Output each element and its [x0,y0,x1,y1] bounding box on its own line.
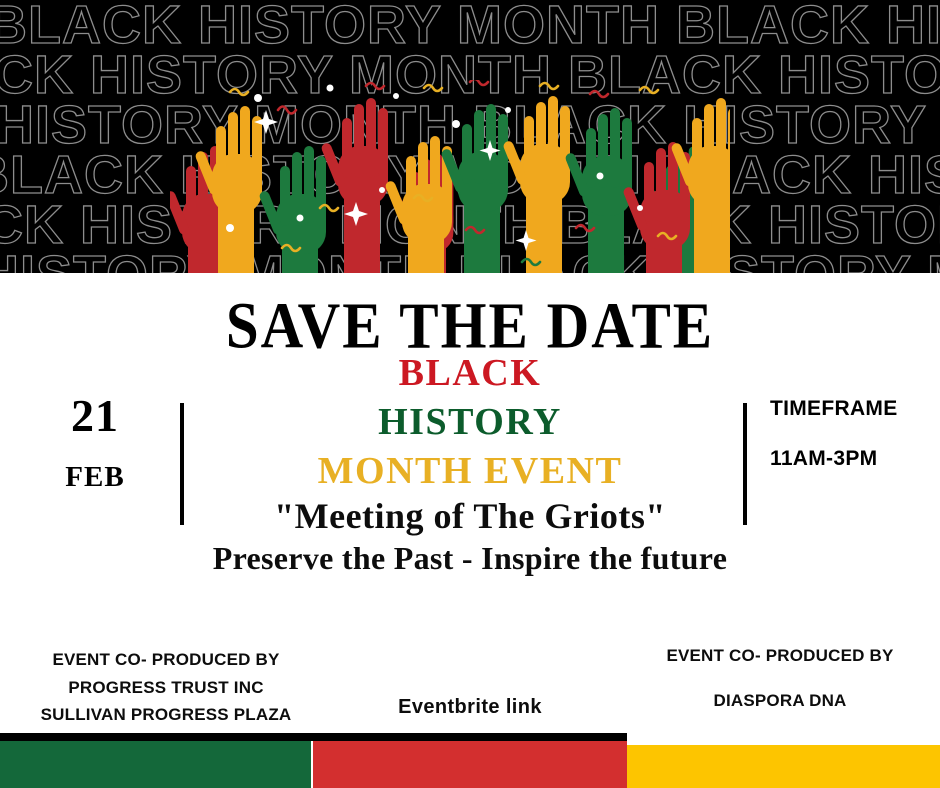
event-tagline: Preserve the Past - Inspire the future [0,540,940,577]
event-date-day: 21 [25,393,165,439]
footer-bar-yellow [627,745,940,788]
banner-header: BLACK HISTORY MONTH BLACK HISTORY MONTH … [0,0,940,273]
main-content: SAVE THE DATE BLACK HISTORY MONTH EVENT … [0,273,940,733]
event-date-block: 21 FEB [25,393,165,492]
event-title-line-black: BLACK [0,351,940,395]
credits-right-line1: EVENT CO- PRODUCED BY [666,646,893,665]
pattern-row: BLACK HISTORY MONTH BLACK HISTORY MONTH … [0,0,940,52]
footer-rule [0,733,627,741]
event-date-month: FEB [25,463,165,492]
eventbrite-link[interactable]: Eventbrite link [320,697,620,717]
credits-right-line2: DIASPORA DNA [630,692,930,709]
raised-hands-illustration [170,80,730,273]
credits-right: EVENT CO- PRODUCED BY DIASPORA DNA [630,647,930,709]
credits-left: EVENT CO- PRODUCED BY PROGRESS TRUST INC… [16,646,316,729]
footer-bar-red [313,741,627,788]
timeframe-value: 11AM-3PM [770,448,940,469]
timeframe-label: TIMEFRAME [770,398,940,419]
divider-left [180,403,184,525]
save-the-date-poster: BLACK HISTORY MONTH BLACK HISTORY MONTH … [0,0,940,788]
footer-bar-green [0,741,311,788]
event-subtitle-quote: "Meeting of The Griots" [0,495,940,537]
event-timeframe-block: TIMEFRAME 11AM-3PM [770,398,940,469]
divider-right [743,403,747,525]
